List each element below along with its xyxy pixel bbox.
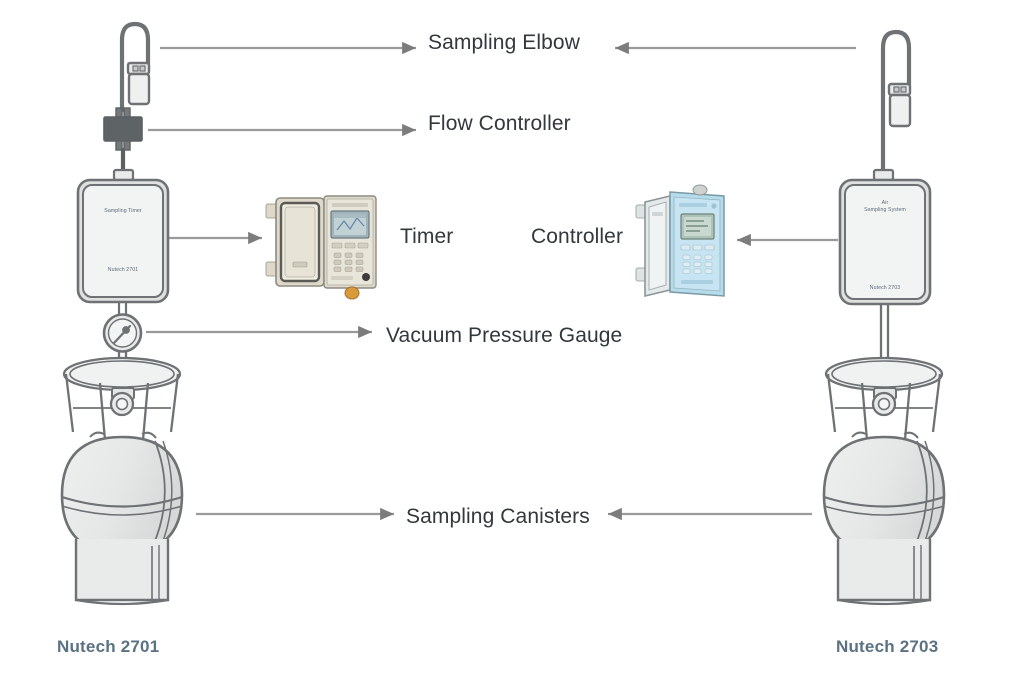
right-device-label-line2: Sampling System xyxy=(840,207,930,214)
left-system-assembly xyxy=(62,24,182,604)
callout-label-timer: Timer xyxy=(400,225,453,249)
timer-unit-photo xyxy=(266,196,376,299)
right-device-label-line1: Air xyxy=(840,200,930,207)
right-sampling-canister xyxy=(824,304,944,604)
left-sampling-timer-unit xyxy=(78,180,168,302)
footer-label-left: Nutech 2701 xyxy=(57,637,159,657)
left-device-label: Sampling Timer xyxy=(78,208,168,215)
left-sampling-elbow xyxy=(122,24,149,110)
callout-label-sampling-elbow: Sampling Elbow xyxy=(428,31,580,55)
right-device-model: Nutech 2703 xyxy=(840,285,930,291)
left-device-model: Nutech 2701 xyxy=(78,267,168,273)
left-vacuum-pressure-gauge xyxy=(104,315,141,352)
callout-label-flow-controller: Flow Controller xyxy=(428,112,571,136)
left-flow-controller xyxy=(104,108,142,180)
callout-label-sampling-canisters: Sampling Canisters xyxy=(406,505,590,529)
callout-label-controller: Controller xyxy=(531,225,623,249)
footer-label-right: Nutech 2703 xyxy=(836,637,938,657)
left-sampling-canister xyxy=(62,351,182,604)
right-sampling-elbow xyxy=(874,32,910,180)
callout-label-vacuum-pressure-gauge: Vacuum Pressure Gauge xyxy=(386,324,622,348)
diagram-canvas: Sampling Elbow Flow Controller Timer Con… xyxy=(0,0,1013,682)
controller-unit-photo xyxy=(636,185,724,296)
right-system-assembly xyxy=(824,32,944,604)
